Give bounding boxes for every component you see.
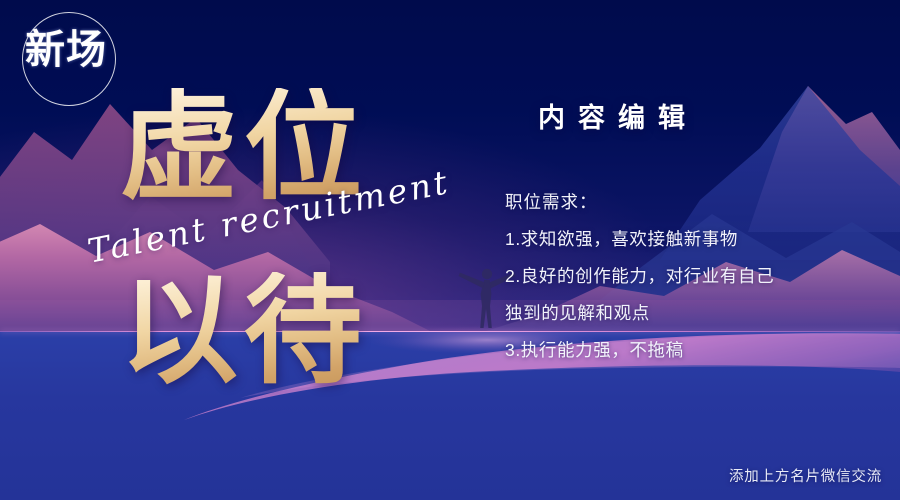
headline-line-2: 以待 xyxy=(120,272,460,390)
job-info-panel: 内容编辑 职位需求： 1.求知欲强，喜欢接触新事物 2.良好的创作能力，对行业有… xyxy=(500,96,880,369)
requirements-heading: 职位需求： xyxy=(505,184,880,221)
logo-text: 新场 xyxy=(14,30,118,70)
recruitment-poster: 新场 虚位 以待 Talent recruitment 内容编辑 职位需求： 1… xyxy=(0,0,900,500)
footer-note: 添加上方名片微信交流 xyxy=(729,465,882,486)
job-title: 内容编辑 xyxy=(500,96,880,135)
requirement-item: 2.良好的创作能力，对行业有自己 xyxy=(505,258,880,295)
brand-logo[interactable]: 新场 xyxy=(14,10,118,110)
requirement-item: 1.求知欲强，喜欢接触新事物 xyxy=(505,221,880,258)
requirement-item: 3.执行能力强，不拖稿 xyxy=(505,332,880,369)
requirement-item: 独到的见解和观点 xyxy=(505,295,880,332)
requirements-block: 职位需求： 1.求知欲强，喜欢接触新事物 2.良好的创作能力，对行业有自己 独到… xyxy=(500,184,880,369)
